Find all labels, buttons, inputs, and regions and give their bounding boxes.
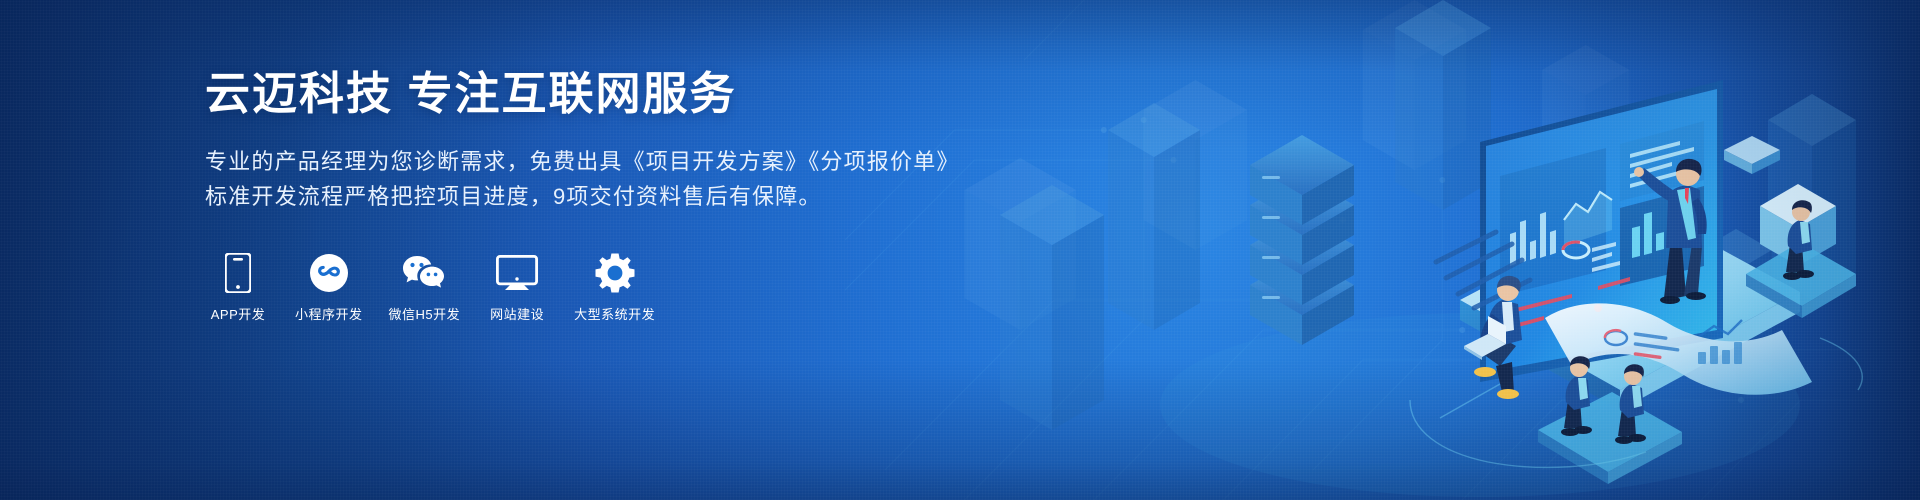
- service-item-website[interactable]: 网站建设: [486, 252, 548, 323]
- service-label-app: APP开发: [211, 307, 266, 323]
- banner-subtitle: 专业的产品经理为您诊断需求，免费出具《项目开发方案》《分项报价单》 标准开发流程…: [205, 144, 925, 214]
- promo-banner: 云迈科技 专注互联网服务 专业的产品经理为您诊断需求，免费出具《项目开发方案》《…: [0, 0, 1920, 500]
- gear-icon: [595, 252, 635, 294]
- service-label-wechat-h5: 微信H5开发: [389, 307, 461, 323]
- service-list: APP开发 小程序开发: [205, 252, 925, 323]
- banner-headline: 云迈科技 专注互联网服务: [205, 66, 925, 122]
- service-item-large-system[interactable]: 大型系统开发: [574, 252, 655, 323]
- monitor-icon: [496, 252, 538, 294]
- mini-program-icon: [310, 252, 348, 294]
- mobile-phone-icon: [225, 252, 251, 294]
- service-item-app[interactable]: APP开发: [207, 252, 269, 323]
- banner-subtitle-line-2: 标准开发流程严格把控项目进度，9项交付资料售后有保障。: [205, 179, 925, 214]
- service-item-mini-program[interactable]: 小程序开发: [295, 252, 363, 323]
- service-label-mini-program: 小程序开发: [295, 307, 363, 323]
- wechat-icon: [402, 252, 446, 294]
- banner-content: 云迈科技 专注互联网服务 专业的产品经理为您诊断需求，免费出具《项目开发方案》《…: [205, 66, 925, 323]
- banner-subtitle-line-1: 专业的产品经理为您诊断需求，免费出具《项目开发方案》《分项报价单》: [205, 144, 925, 179]
- service-item-wechat-h5[interactable]: 微信H5开发: [389, 252, 461, 323]
- service-label-website: 网站建设: [490, 307, 544, 323]
- service-label-large-system: 大型系统开发: [574, 307, 655, 323]
